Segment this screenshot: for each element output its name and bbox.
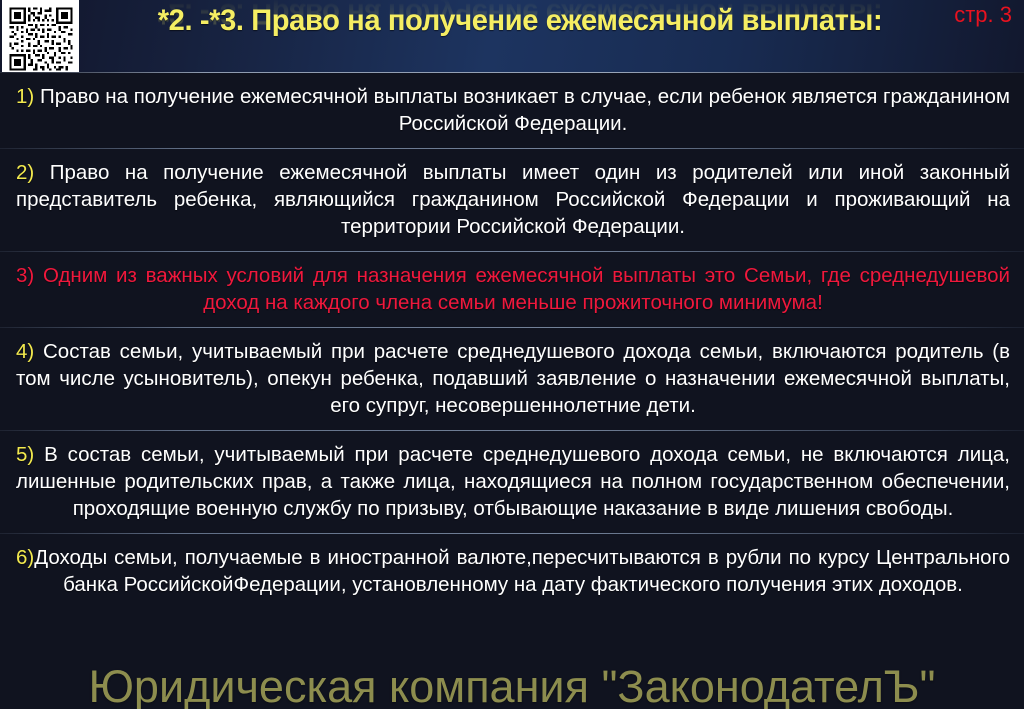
company-watermark: Юридическая компания "ЗаконодателЪ"	[0, 661, 1024, 709]
slide-header: *2. -*3. Право на получение ежемесячной …	[0, 0, 1024, 72]
paragraph-number: 5)	[16, 443, 34, 466]
paragraph-item: 4) Состав семьи, учитываемый при расчете…	[0, 328, 1024, 430]
qr-code-icon	[2, 0, 79, 72]
paragraph-text: Состав семьи, учитываемый при расчете ср…	[16, 340, 1010, 417]
paragraph-number: 6)	[16, 546, 34, 569]
paragraph-text: Одним из важных условий для назначения е…	[34, 264, 1010, 314]
paragraph-item: 5) В состав семьи, учитываемый при расче…	[0, 431, 1024, 533]
content-list: 1) Право на получение ежемесячной выплат…	[0, 72, 1024, 609]
paragraph-number: 2)	[16, 161, 34, 184]
paragraph-number: 1)	[16, 85, 34, 108]
paragraph-item: 6)Доходы семьи, получаемые в иностранной…	[0, 534, 1024, 609]
paragraph-number: 3)	[16, 264, 34, 287]
paragraph-item: 1) Право на получение ежемесячной выплат…	[0, 73, 1024, 148]
paragraph-text: Доходы семьи, получаемые в иностранной в…	[34, 546, 1010, 596]
title-block: *2. -*3. Право на получение ежемесячной …	[110, 2, 930, 72]
paragraph-item: 2) Право на получение ежемесячной выплат…	[0, 149, 1024, 251]
page-number-label: стр. 3	[954, 2, 1012, 28]
paragraph-number: 4)	[16, 340, 34, 363]
slide-root: *2. -*3. Право на получение ежемесячной …	[0, 0, 1024, 709]
paragraph-text: В состав семьи, учитываемый при расчете …	[16, 443, 1010, 520]
paragraph-text: Право на получение ежемесячной выплаты в…	[34, 85, 1010, 135]
paragraph-item-highlighted: 3) Одним из важных условий для назначени…	[0, 252, 1024, 327]
page-title-reflection: *2. -*3. Право на получение ежемесячной …	[122, 0, 917, 32]
paragraph-text: Право на получение ежемесячной выплаты и…	[16, 161, 1010, 238]
